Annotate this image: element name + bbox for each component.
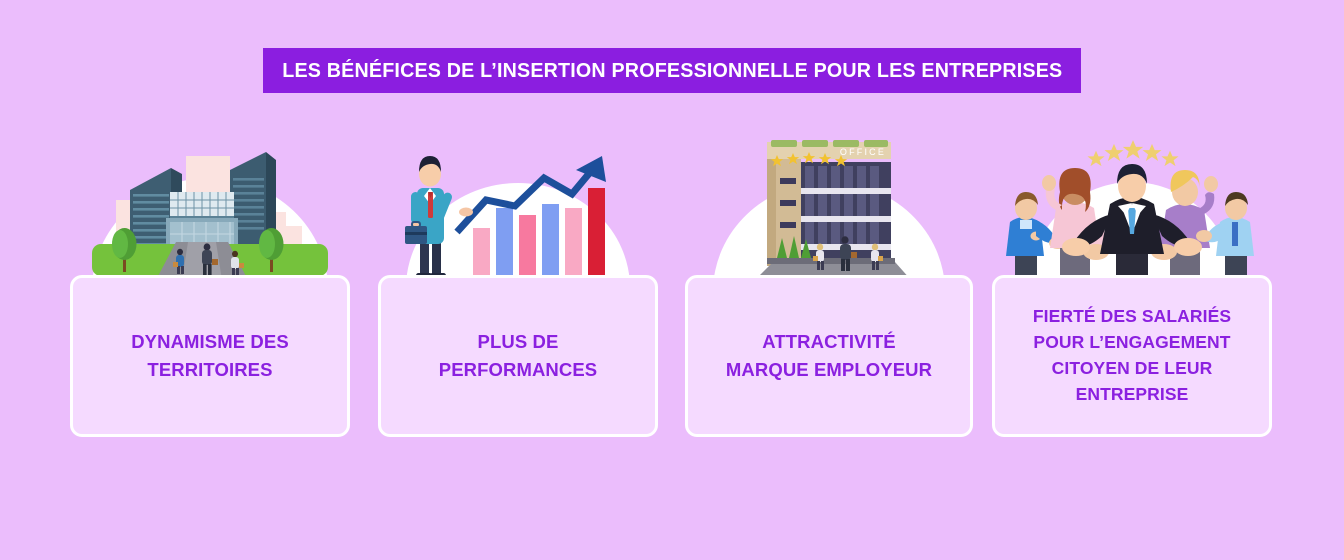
happy-team-illustration bbox=[992, 130, 1272, 280]
page-title: LES BÉNÉFICES DE L’INSERTION PROFESSIONN… bbox=[282, 59, 1062, 83]
office-building-illustration: OFFICE bbox=[685, 130, 973, 280]
growth-chart-illustration bbox=[378, 130, 658, 280]
benefit-card-1[interactable]: DYNAMISME DES TERRITOIRES bbox=[70, 275, 350, 437]
page-title-banner: LES BÉNÉFICES DE L’INSERTION PROFESSIONN… bbox=[263, 48, 1081, 93]
benefit-column-1: DYNAMISME DES TERRITOIRES bbox=[70, 130, 350, 437]
benefit-card-4-label: FIERTÉ DES SALARIÉS POUR L’ENGAGEMENT CI… bbox=[1023, 304, 1241, 408]
benefit-card-3[interactable]: ATTRACTIVITÉ MARQUE EMPLOYEUR bbox=[685, 275, 973, 437]
benefit-card-2-label: PLUS DE PERFORMANCES bbox=[429, 328, 607, 384]
benefit-column-4: FIERTÉ DES SALARIÉS POUR L’ENGAGEMENT CI… bbox=[992, 130, 1272, 437]
benefit-column-3: OFFICE bbox=[685, 130, 973, 437]
benefit-column-2: PLUS DE PERFORMANCES bbox=[378, 130, 658, 437]
svg-text:OFFICE: OFFICE bbox=[840, 147, 886, 157]
benefit-card-3-label: ATTRACTIVITÉ MARQUE EMPLOYEUR bbox=[716, 328, 942, 384]
benefit-card-2[interactable]: PLUS DE PERFORMANCES bbox=[378, 275, 658, 437]
benefit-card-1-label: DYNAMISME DES TERRITOIRES bbox=[121, 328, 299, 384]
city-buildings-illustration bbox=[70, 130, 350, 280]
benefit-card-4[interactable]: FIERTÉ DES SALARIÉS POUR L’ENGAGEMENT CI… bbox=[992, 275, 1272, 437]
